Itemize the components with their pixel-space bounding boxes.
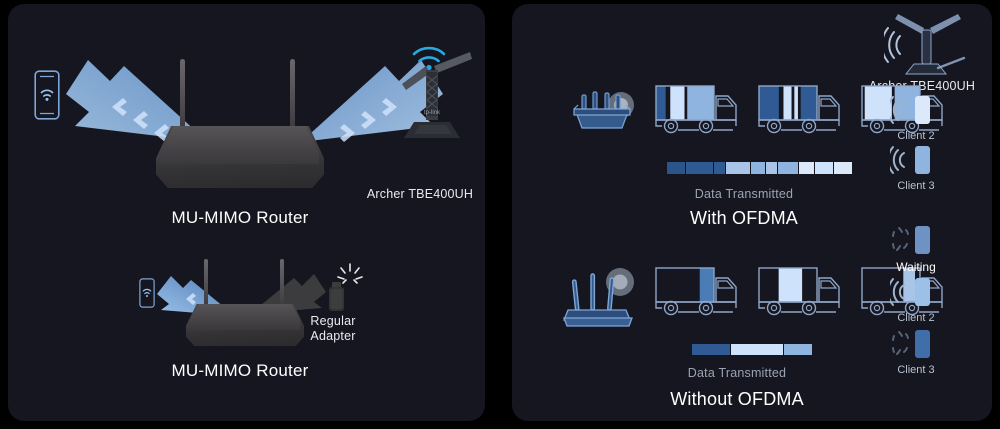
regular-adapter-icon bbox=[321, 262, 365, 318]
archer-tbe400uh-adapter: tp-link bbox=[396, 26, 485, 144]
router-label-top: MU-MIMO Router bbox=[172, 208, 309, 228]
infographic-stage: tp-link Archer TBE400UH MU-MIMO Router bbox=[0, 0, 1000, 429]
data-bar-segment bbox=[834, 162, 852, 174]
smartphone-client-icon-bottom bbox=[139, 278, 155, 308]
truck-item bbox=[757, 266, 849, 323]
truck-icon bbox=[757, 84, 849, 136]
data-bar-segment bbox=[751, 162, 764, 174]
data-bar-without-ofdma bbox=[692, 344, 812, 355]
data-transmitted-label-with: Data Transmitted bbox=[695, 187, 793, 201]
data-bar-segment bbox=[692, 344, 730, 355]
data-bar-segment bbox=[714, 162, 725, 174]
client-label: Client 3 bbox=[897, 364, 934, 376]
data-bar-segment bbox=[766, 162, 777, 174]
with-ofdma-title: With OFDMA bbox=[690, 208, 798, 229]
truck-item bbox=[654, 266, 746, 323]
data-bar-with-ofdma bbox=[667, 162, 852, 174]
mu-mimo-router-bottom bbox=[186, 304, 304, 346]
smartphone-client-icon bbox=[34, 70, 60, 120]
data-bar-segment bbox=[799, 162, 815, 174]
router-antenna-right bbox=[290, 59, 295, 129]
client-signal-and-device bbox=[890, 222, 936, 258]
client-client-2 bbox=[890, 274, 936, 315]
right-panel-ofdma: Archer TBE400UH bbox=[512, 4, 992, 421]
client-label: Client 3 bbox=[897, 180, 934, 192]
client-signal-and-device bbox=[890, 92, 936, 128]
client-signal-and-device bbox=[890, 326, 936, 362]
svg-text:tp-link: tp-link bbox=[424, 110, 441, 116]
client-client-3 bbox=[890, 142, 936, 183]
client-signal-and-device bbox=[890, 274, 936, 310]
router-top-face bbox=[190, 304, 301, 330]
without-ofdma-title: Without OFDMA bbox=[670, 389, 804, 410]
archer-tbe400uh-adapter-glow bbox=[884, 12, 966, 80]
client-client-2 bbox=[890, 92, 936, 133]
wifi7-router-icon bbox=[562, 84, 640, 144]
mu-mimo-router-top bbox=[156, 126, 324, 188]
client-label: Client 2 bbox=[897, 312, 934, 324]
router-antenna-left bbox=[204, 259, 208, 307]
data-bar-segment bbox=[815, 162, 833, 174]
data-bar-segment bbox=[784, 344, 812, 355]
left-panel-mu-mimo: tp-link Archer TBE400UH MU-MIMO Router bbox=[8, 4, 485, 421]
truck-icon bbox=[757, 266, 849, 318]
client-label: Client 2 bbox=[897, 130, 934, 142]
data-bar-segment bbox=[778, 162, 798, 174]
truck-item bbox=[654, 84, 746, 141]
data-bar-segment bbox=[731, 344, 783, 355]
truck-item bbox=[757, 84, 849, 141]
router-antenna-left bbox=[180, 59, 185, 129]
client-label: Waiting bbox=[896, 260, 936, 274]
data-bar-segment bbox=[726, 162, 751, 174]
router-label-bottom: MU-MIMO Router bbox=[172, 361, 309, 381]
client-waiting bbox=[890, 222, 936, 263]
router-top-face bbox=[161, 126, 319, 164]
data-bar-segment bbox=[686, 162, 713, 174]
data-transmitted-label-without: Data Transmitted bbox=[688, 366, 786, 380]
adapter-label-top: Archer TBE400UH bbox=[367, 187, 473, 201]
router-antenna-right bbox=[280, 259, 284, 307]
legacy-router-icon bbox=[560, 262, 640, 330]
regular-adapter-label-line2: Adapter bbox=[310, 329, 355, 343]
client-client-3 bbox=[890, 326, 936, 367]
data-bar-segment bbox=[667, 162, 685, 174]
truck-icon bbox=[654, 266, 746, 318]
truck-icon bbox=[654, 84, 746, 136]
regular-adapter-label-line1: Regular bbox=[310, 314, 355, 328]
client-signal-and-device bbox=[890, 142, 936, 178]
